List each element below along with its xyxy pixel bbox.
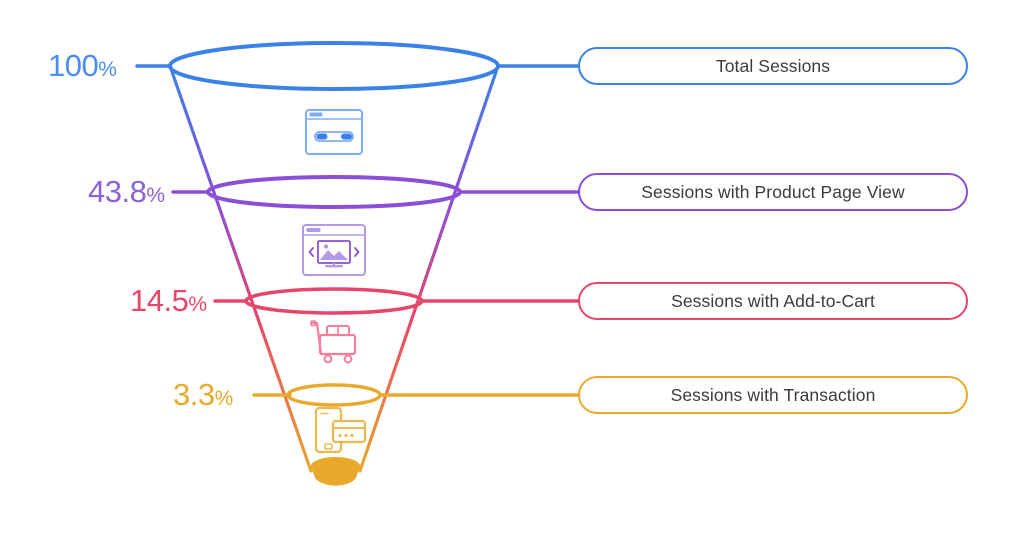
- stage-pill-label: Sessions with Transaction: [671, 385, 876, 406]
- shopping-cart-icon: [311, 321, 355, 362]
- stage-pill-label: Sessions with Product Page View: [641, 182, 904, 203]
- pct-value: 100: [48, 48, 98, 83]
- funnel-stage-total-sessions: [137, 43, 578, 89]
- pct-sign: %: [215, 387, 233, 410]
- pct-label-add-to-cart: 14.5%: [130, 283, 207, 319]
- funnel-bottom-spout: [311, 457, 360, 486]
- product-gallery-icon: [303, 225, 365, 275]
- mobile-payment-icon: [316, 408, 365, 452]
- stage-pill-add-to-cart[interactable]: Sessions with Add-to-Cart: [578, 282, 968, 320]
- pct-value: 14.5: [130, 283, 188, 318]
- pct-sign: %: [188, 293, 206, 316]
- browser-search-icon: [306, 110, 362, 154]
- pct-label-transaction: 3.3%: [173, 377, 233, 413]
- stage-pill-label: Total Sessions: [716, 56, 830, 77]
- stage-pill-label: Sessions with Add-to-Cart: [671, 291, 875, 312]
- funnel-stage-add-to-cart: [215, 289, 578, 313]
- stage-pill-product-page-view[interactable]: Sessions with Product Page View: [578, 173, 968, 211]
- stage-pill-total-sessions[interactable]: Total Sessions: [578, 47, 968, 85]
- pct-label-total-sessions: 100%: [48, 48, 116, 84]
- funnel-stage-product-page-view: [173, 177, 578, 207]
- stage-pill-transaction[interactable]: Sessions with Transaction: [578, 376, 968, 414]
- pct-sign: %: [98, 58, 116, 81]
- pct-value: 3.3: [173, 377, 215, 412]
- pct-sign: %: [146, 184, 164, 207]
- pct-value: 43.8: [88, 174, 146, 209]
- funnel-stage-transaction: [254, 385, 578, 405]
- pct-label-product-page-view: 43.8%: [88, 174, 165, 210]
